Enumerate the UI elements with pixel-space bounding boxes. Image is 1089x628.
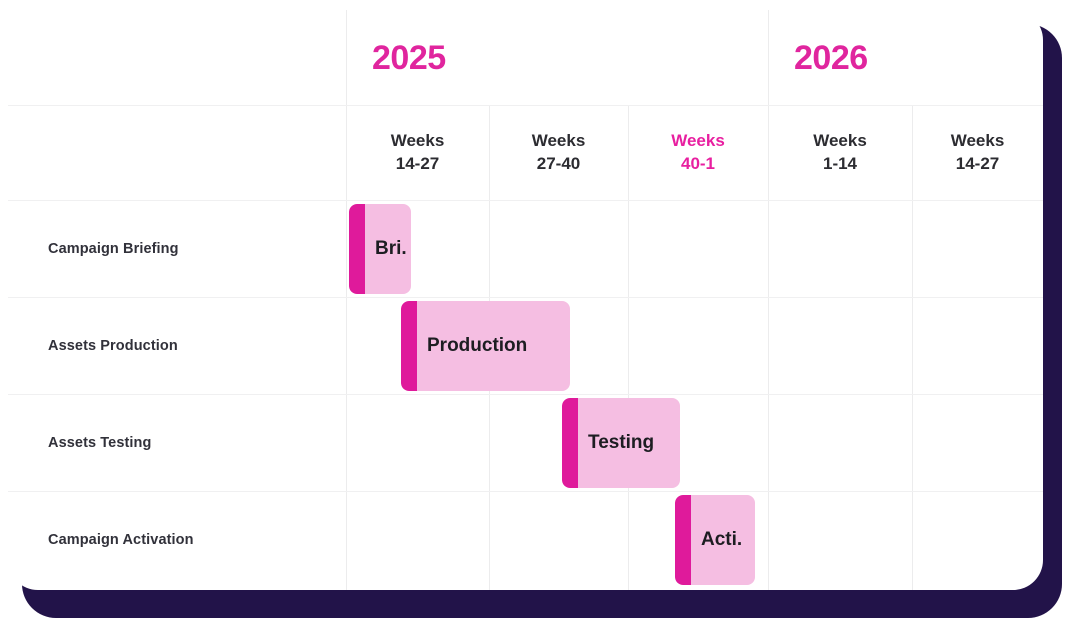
gantt-bar-label: Production bbox=[427, 335, 527, 357]
task-label: Assets Production bbox=[48, 338, 178, 354]
bar-accent-strip bbox=[562, 398, 578, 488]
gantt-bar-assets-testing[interactable]: Testing bbox=[562, 398, 680, 488]
period-range: 14-27 bbox=[396, 153, 439, 176]
gantt-bar-label: Testing bbox=[588, 432, 654, 454]
period-range: 14-27 bbox=[956, 153, 999, 176]
task-label: Assets Testing bbox=[48, 435, 151, 451]
period-range: 1-14 bbox=[823, 153, 857, 176]
gantt-chart-card: 2025 2026 Weeks 14-27 Weeks 27-40 Weeks … bbox=[8, 10, 1043, 590]
gantt-screenshot: 2025 2026 Weeks 14-27 Weeks 27-40 Weeks … bbox=[0, 0, 1089, 628]
bar-accent-strip bbox=[349, 204, 365, 294]
task-row-campaign-briefing[interactable]: Campaign Briefing bbox=[8, 200, 354, 297]
year-label: 2025 bbox=[372, 41, 446, 75]
year-label: 2026 bbox=[794, 41, 868, 75]
task-label: Campaign Activation bbox=[48, 532, 194, 548]
period-title: Weeks bbox=[671, 130, 725, 153]
period-title: Weeks bbox=[391, 130, 445, 153]
period-header-weeks-14-27-2025[interactable]: Weeks 14-27 bbox=[346, 105, 489, 200]
period-header-weeks-1-14-2026[interactable]: Weeks 1-14 bbox=[768, 105, 912, 200]
bar-accent-strip bbox=[401, 301, 417, 391]
period-header-weeks-27-40-2025[interactable]: Weeks 27-40 bbox=[489, 105, 628, 200]
task-row-assets-testing[interactable]: Assets Testing bbox=[8, 394, 354, 491]
gantt-bar-campaign-activation[interactable]: Acti. bbox=[675, 495, 755, 585]
year-header-2025: 2025 bbox=[346, 10, 768, 105]
gantt-bar-label: Bri. bbox=[375, 238, 407, 260]
task-label: Campaign Briefing bbox=[48, 241, 179, 257]
gantt-bar-label: Acti. bbox=[701, 529, 742, 551]
task-row-assets-production[interactable]: Assets Production bbox=[8, 297, 354, 394]
period-title: Weeks bbox=[813, 130, 867, 153]
period-header-weeks-40-1-2025[interactable]: Weeks 40-1 bbox=[628, 105, 768, 200]
period-title: Weeks bbox=[532, 130, 586, 153]
gantt-bar-campaign-briefing[interactable]: Bri. bbox=[349, 204, 411, 294]
bar-accent-strip bbox=[675, 495, 691, 585]
task-row-campaign-activation[interactable]: Campaign Activation bbox=[8, 491, 354, 588]
period-header-weeks-14-27-2026[interactable]: Weeks 14-27 bbox=[912, 105, 1043, 200]
period-title: Weeks bbox=[951, 130, 1005, 153]
period-range: 40-1 bbox=[681, 153, 715, 176]
year-header-2026: 2026 bbox=[768, 10, 1043, 105]
gantt-bar-assets-production[interactable]: Production bbox=[401, 301, 570, 391]
period-range: 27-40 bbox=[537, 153, 580, 176]
